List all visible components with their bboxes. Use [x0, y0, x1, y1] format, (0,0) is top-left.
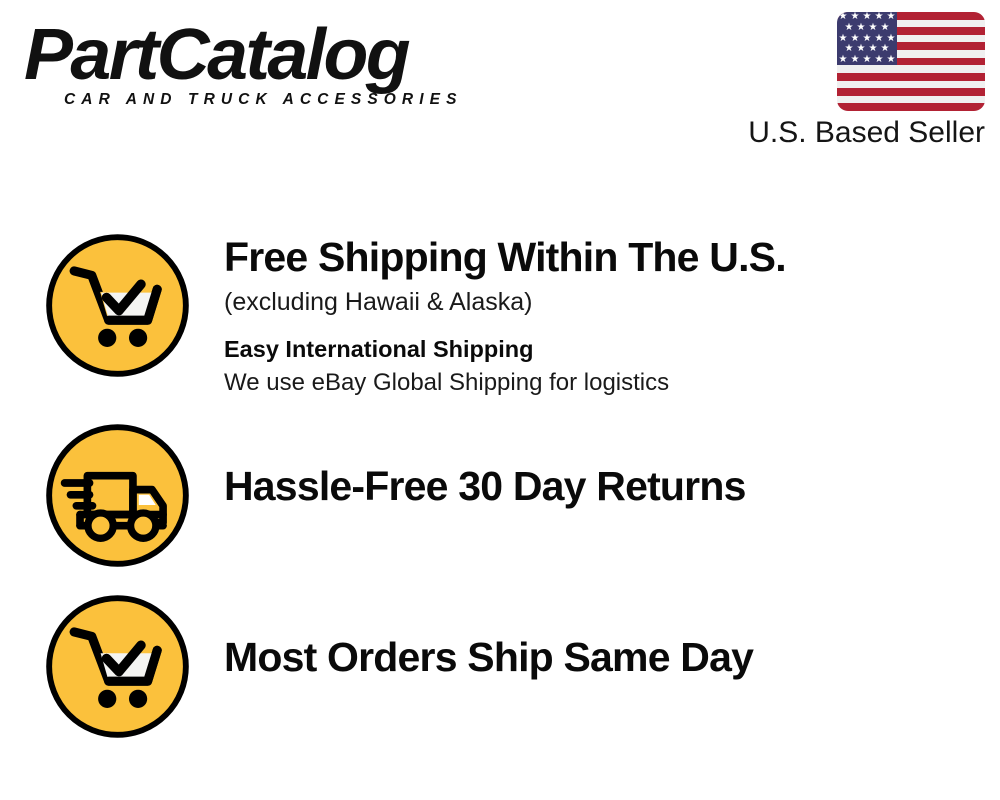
flag-star: ★ — [880, 23, 890, 33]
feature-text: Most Orders Ship Same Day — [224, 593, 1000, 679]
flag-star: ★ — [856, 44, 866, 54]
feature-subline: (excluding Hawaii & Alaska) — [224, 287, 1000, 318]
flag-star: ★ — [874, 34, 884, 44]
flag-stripe — [837, 88, 985, 96]
shopping-cart-check-icon — [44, 593, 191, 740]
us-based-seller-badge: ★★★★★★★★★★★★★★★★★★★★★★★ U.S. Based Selle… — [685, 12, 985, 150]
shopping-cart-check-icon — [44, 232, 191, 379]
flag-star: ★ — [874, 12, 884, 22]
flag-star: ★ — [838, 34, 848, 44]
page-header: PartCatalog CAR AND TRUCK ACCESSORIES ★★… — [0, 0, 1000, 175]
feature-subline-small: We use eBay Global Shipping for logistic… — [224, 368, 1000, 398]
flag-star: ★ — [880, 44, 890, 54]
flag-star: ★ — [844, 23, 854, 33]
us-flag-icon: ★★★★★★★★★★★★★★★★★★★★★★★ — [837, 12, 985, 111]
flag-stripe — [837, 103, 985, 111]
flag-star: ★ — [838, 12, 848, 22]
flag-star: ★ — [850, 12, 860, 22]
flag-star: ★ — [886, 12, 896, 22]
feature-row: Hassle-Free 30 Day Returns — [0, 422, 1000, 569]
flag-star: ★ — [868, 23, 878, 33]
flag-star: ★ — [856, 23, 866, 33]
delivery-truck-icon — [44, 422, 191, 569]
feature-headline: Free Shipping Within The U.S. — [224, 235, 1000, 279]
flag-star: ★ — [862, 55, 872, 65]
brand-logo[interactable]: PartCatalog CAR AND TRUCK ACCESSORIES — [24, 22, 494, 109]
flag-star: ★ — [886, 34, 896, 44]
feature-row: Most Orders Ship Same Day — [0, 593, 1000, 740]
flag-star: ★ — [862, 12, 872, 22]
feature-row: Free Shipping Within The U.S. (excluding… — [0, 232, 1000, 398]
flag-stripe — [837, 81, 985, 89]
feature-subline-bold: Easy International Shipping — [224, 335, 1000, 364]
feature-headline: Most Orders Ship Same Day — [224, 635, 1000, 679]
flag-star: ★ — [862, 34, 872, 44]
flag-stripe — [837, 96, 985, 104]
us-based-seller-label: U.S. Based Seller — [685, 116, 985, 150]
flag-stripe — [837, 65, 985, 73]
flag-star: ★ — [886, 55, 896, 65]
feature-text: Free Shipping Within The U.S. (excluding… — [224, 232, 1000, 398]
flag-star: ★ — [850, 34, 860, 44]
flag-stripe — [837, 73, 985, 81]
flag-canton: ★★★★★★★★★★★★★★★★★★★★★★★ — [837, 12, 897, 65]
feature-text: Hassle-Free 30 Day Returns — [224, 422, 1000, 508]
logo-wordmark: PartCatalog — [24, 22, 503, 88]
flag-star: ★ — [844, 44, 854, 54]
flag-star: ★ — [838, 55, 848, 65]
feature-headline: Hassle-Free 30 Day Returns — [224, 464, 1000, 508]
flag-star: ★ — [850, 55, 860, 65]
flag-star: ★ — [868, 44, 878, 54]
flag-star: ★ — [874, 55, 884, 65]
